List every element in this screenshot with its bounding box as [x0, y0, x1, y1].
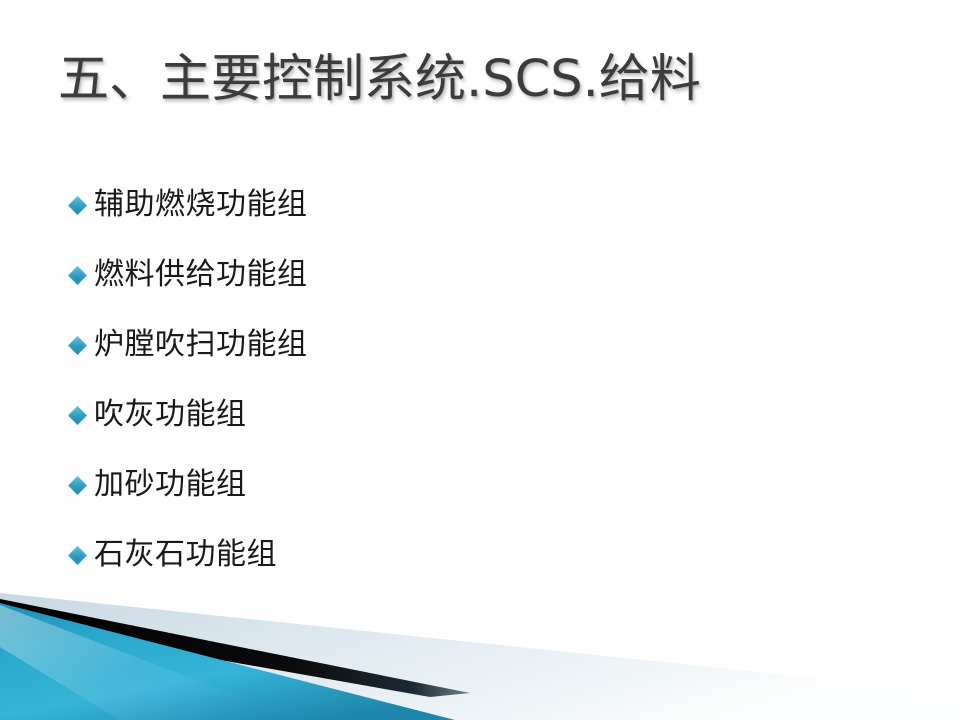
bottom-decoration-graphic [0, 585, 960, 720]
list-item-label: 燃料供给功能组 [94, 258, 308, 292]
diamond-bullet-icon [66, 401, 94, 429]
bullet-list: 辅助燃烧功能组 燃料供给功能组 炉膛吹扫功能组 吹灰功能组 加砂功能组 石灰石功… [66, 170, 846, 590]
list-item-label: 石灰石功能组 [94, 538, 277, 572]
list-item-label: 辅助燃烧功能组 [94, 188, 308, 222]
page-title: 五、主要控制系统.SCS.给料 [58, 44, 918, 116]
diamond-bullet-icon [66, 261, 94, 289]
list-item: 辅助燃烧功能组 [66, 170, 846, 240]
list-item: 吹灰功能组 [66, 380, 846, 450]
list-item-label: 加砂功能组 [94, 468, 247, 502]
list-item-label: 吹灰功能组 [94, 398, 247, 432]
list-item: 燃料供给功能组 [66, 240, 846, 310]
slide-title-block: 五、主要控制系统.SCS.给料 [58, 44, 918, 124]
presentation-slide: 五、主要控制系统.SCS.给料 辅助燃烧功能组 燃料供给功能组 炉膛吹扫功能组 … [0, 0, 960, 720]
list-item-label: 炉膛吹扫功能组 [94, 328, 308, 362]
diamond-bullet-icon [66, 471, 94, 499]
diamond-bullet-icon [66, 541, 94, 569]
diamond-bullet-icon [66, 331, 94, 359]
diamond-bullet-icon [66, 191, 94, 219]
list-item: 加砂功能组 [66, 450, 846, 520]
list-item: 石灰石功能组 [66, 520, 846, 590]
list-item: 炉膛吹扫功能组 [66, 310, 846, 380]
